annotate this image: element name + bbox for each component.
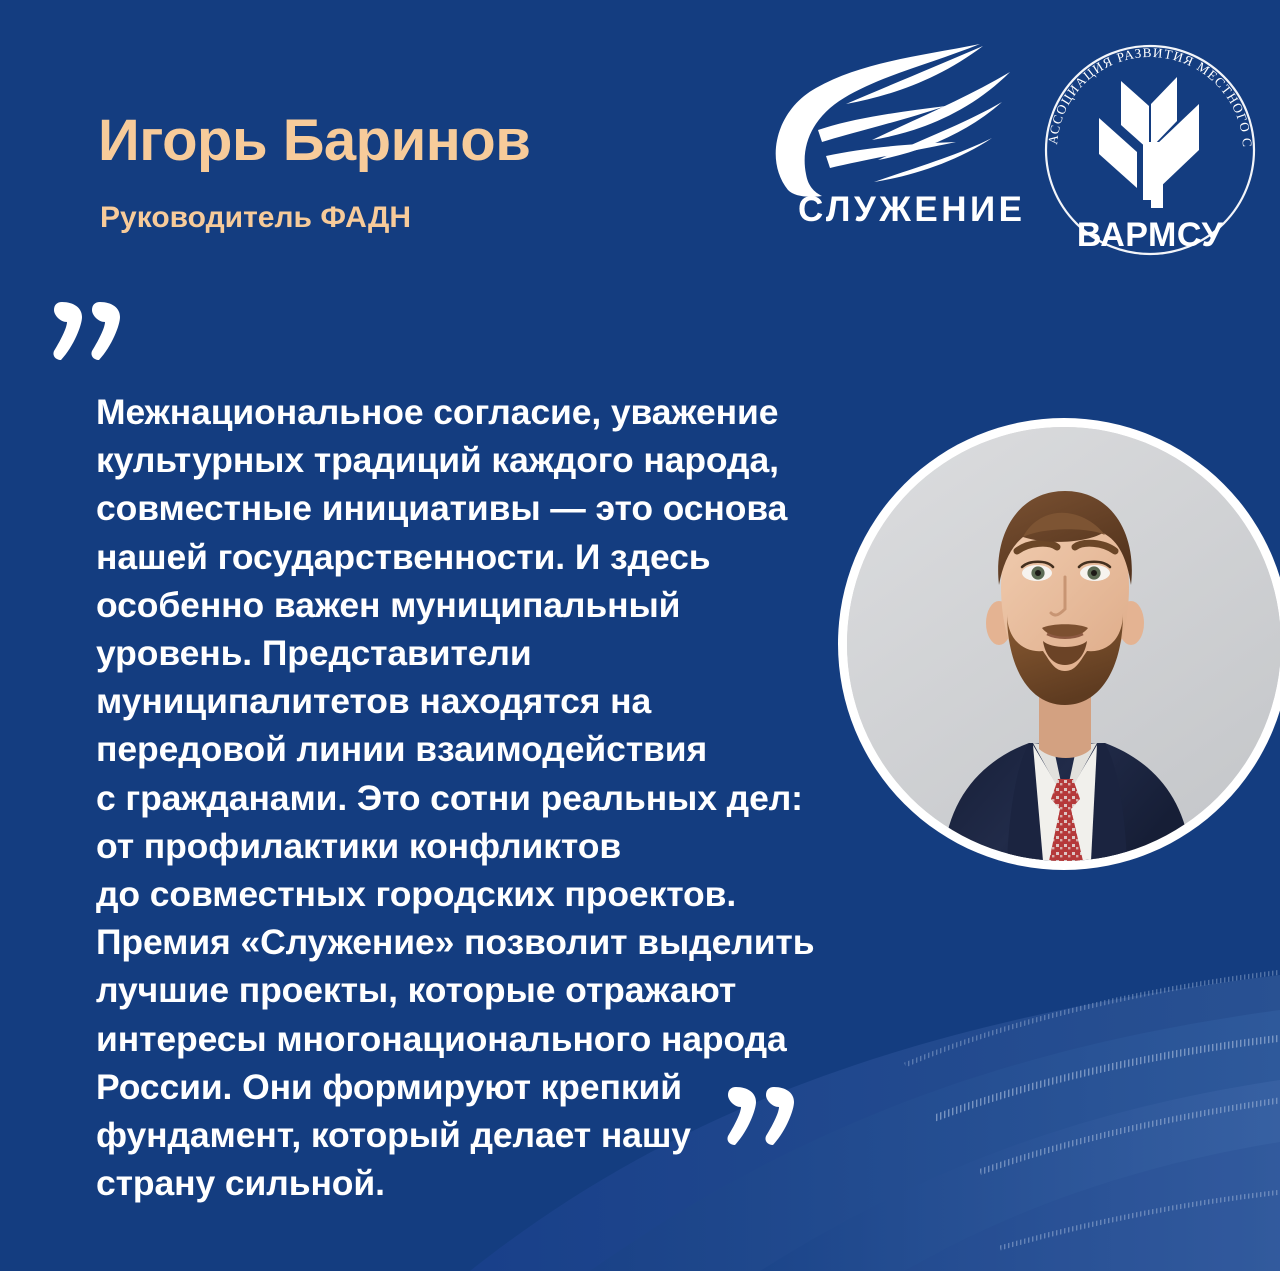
- varmsu-logo: ВСЕРОССИЙСКАЯ АССОЦИАЦИЯ РАЗВИТИЯ МЕСТНО…: [1037, 22, 1263, 262]
- portrait-photo: [847, 427, 1280, 861]
- open-quote-icon: [52, 300, 128, 362]
- sluzhenie-logo: СЛУЖЕНИЕ: [770, 40, 1035, 255]
- varmsu-wordmark: ВАРМСУ: [1077, 216, 1224, 254]
- sprout-emblem-icon: [1099, 77, 1199, 208]
- wing-swoosh-icon: [770, 40, 1035, 200]
- sluzhenie-wordmark: СЛУЖЕНИЕ: [798, 192, 1063, 227]
- quote-card: Игорь Баринов Руководитель ФАДН СЛУЖЕНИЕ: [0, 0, 1280, 1271]
- close-quote-icon: [726, 1085, 802, 1147]
- avatar: [838, 418, 1280, 870]
- speaker-role: Руководитель ФАДН: [100, 203, 411, 233]
- page-title: Игорь Баринов: [98, 112, 530, 170]
